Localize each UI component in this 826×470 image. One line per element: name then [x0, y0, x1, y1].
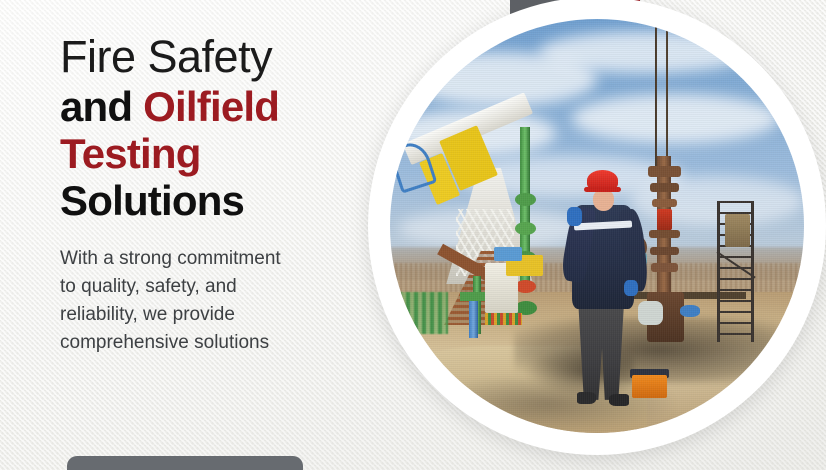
wellhead-flange [652, 199, 678, 207]
cta-button[interactable] [67, 456, 303, 470]
wellhead-flange [650, 247, 679, 255]
description-line-1: With a strong commitment [60, 245, 370, 273]
valve-fitting [515, 193, 536, 206]
oilfield-photo [390, 19, 804, 433]
cloud [539, 31, 754, 72]
worker-boot [577, 392, 596, 404]
headline-testing: Testing [60, 133, 370, 175]
hero-description: With a strong commitment to quality, saf… [60, 245, 370, 357]
worker-glove [624, 280, 638, 297]
description-line-2: to quality, safety, and [60, 273, 370, 301]
wellhead-red-valve [657, 209, 672, 230]
hero-text-column: Fire Safety and Oilfield Testing Solutio… [60, 34, 370, 357]
worker-face [593, 190, 614, 211]
blue-valve [680, 305, 701, 317]
hard-hat-brim [584, 187, 621, 192]
headline-and: and [60, 83, 132, 130]
valve-fitting-red [515, 280, 536, 293]
wellhead-flange [648, 166, 681, 177]
valve-fitting [515, 222, 536, 235]
painted-pipe-band [485, 313, 522, 325]
wellhead-cable [666, 19, 668, 168]
headline-solutions: Solutions [60, 180, 370, 222]
wellhead-cable [655, 19, 657, 168]
wellhead-flange [651, 263, 678, 271]
wellhead-flange [649, 230, 680, 238]
green-valve-manifold [398, 292, 448, 333]
page-title: Fire Safety and Oilfield Testing Solutio… [60, 34, 370, 222]
worker-glove [567, 207, 582, 226]
white-valve [638, 301, 663, 326]
orange-toolbox [632, 375, 667, 398]
cloud [572, 94, 779, 144]
description-line-3: reliability, we provide [60, 301, 370, 329]
headline-oilfield: Oilfield [143, 83, 279, 130]
description-line-4: comprehensive solutions [60, 329, 370, 357]
ladder-platform-tank [725, 214, 750, 247]
headline-line-2: and Oilfield [60, 86, 370, 128]
headline-line-1: Fire Safety [60, 34, 370, 79]
blue-equipment [494, 247, 523, 261]
worker-boot [609, 394, 629, 406]
photo-scene [390, 19, 804, 433]
wellhead-flange [650, 183, 679, 193]
blue-pipe [469, 301, 478, 338]
